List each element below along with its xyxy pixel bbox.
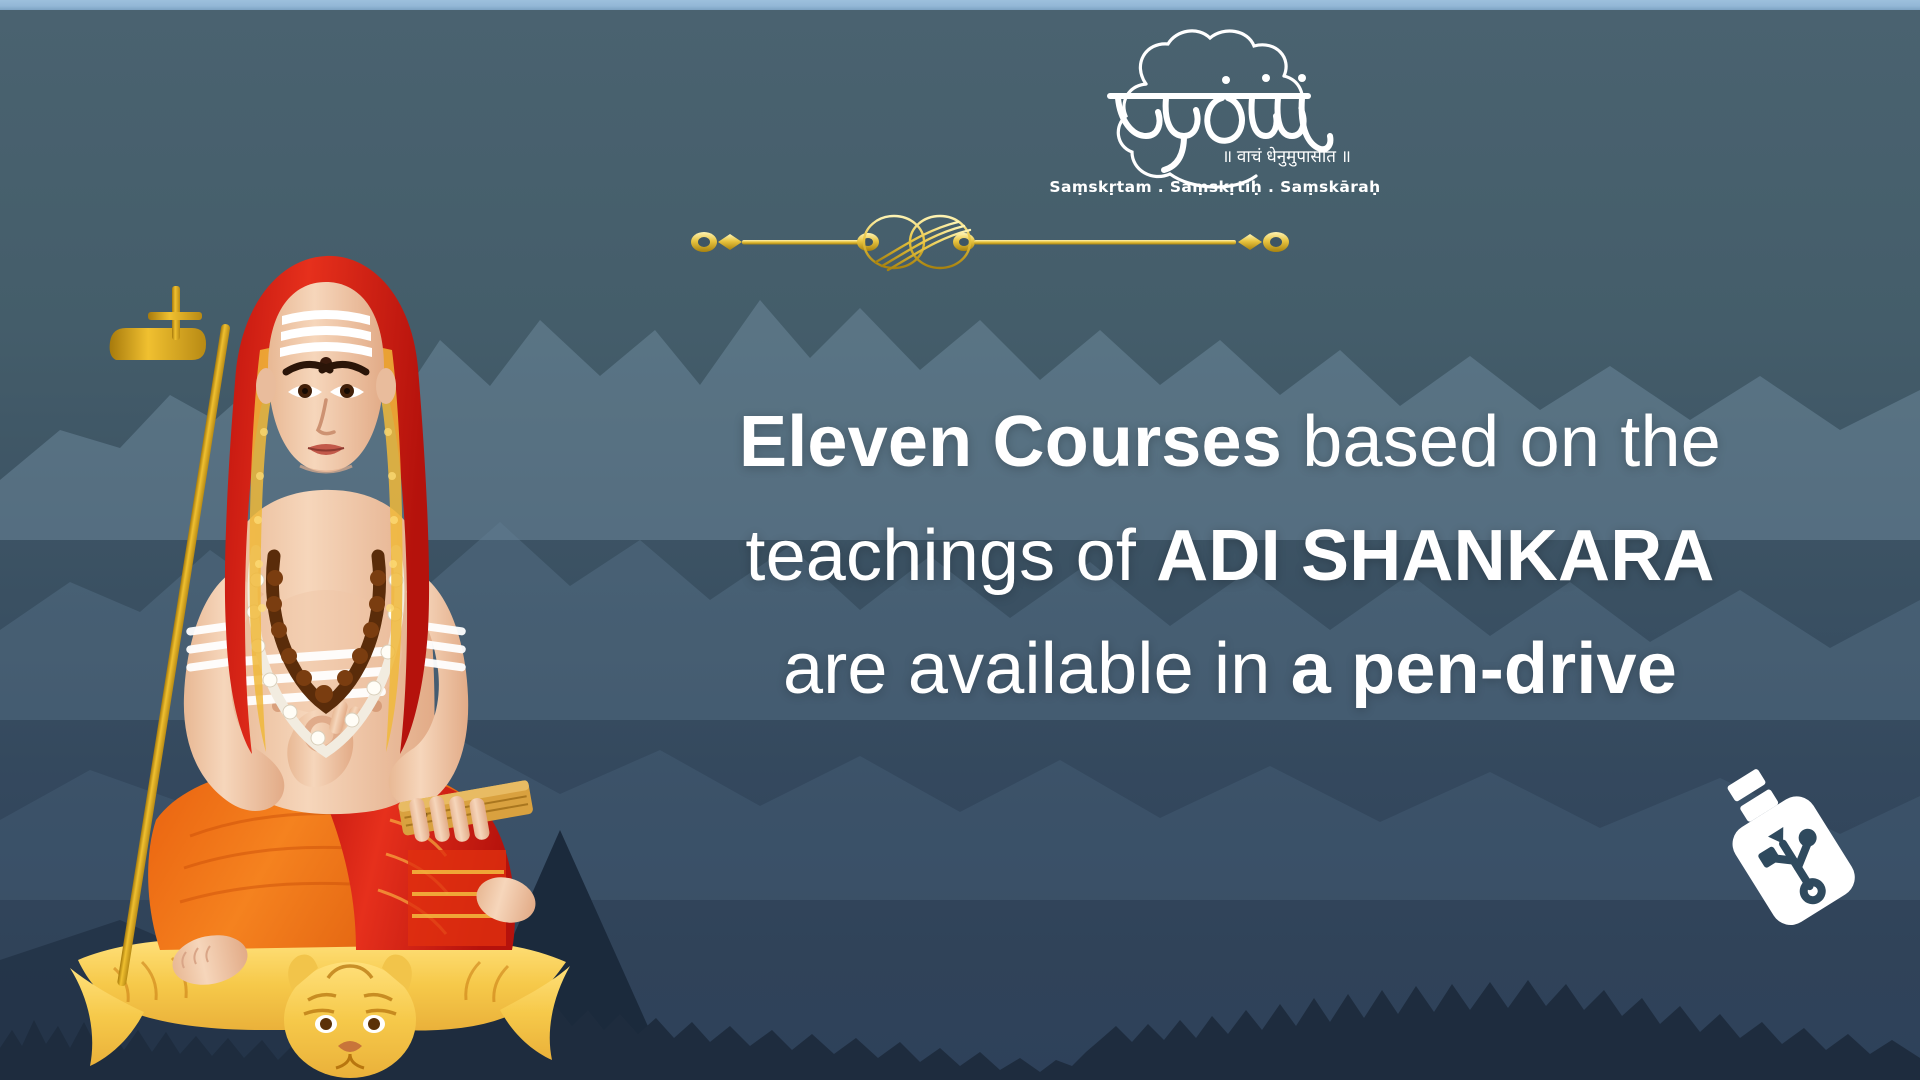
- headline-line-2-strong: ADI SHANKARA: [1156, 516, 1714, 596]
- headline-line-1: Eleven Courses based on the: [640, 396, 1820, 490]
- sky-strip: [0, 0, 1920, 10]
- logo-svg: ॥ वाचं धेनुमुपासीत ॥ Saṃskṛtam . Saṃskṛt…: [1050, 24, 1380, 204]
- headline-line-1-normal: based on the: [1282, 402, 1721, 482]
- headline: Eleven Courses based on the teachings of…: [640, 396, 1820, 717]
- gold-divider-ornament: [690, 212, 1290, 272]
- headline-line-3-strong: a pen-drive: [1291, 629, 1677, 709]
- divider-svg: [690, 212, 1290, 272]
- headline-line-3-normal: are available in: [783, 629, 1291, 709]
- headline-line-2: teachings of ADI SHANKARA: [640, 510, 1820, 604]
- logo-tagline: Saṃskṛtam . Saṃskṛtiḥ . Saṃskāraḥ: [1050, 178, 1380, 196]
- headline-line-3: are available in a pen-drive: [640, 623, 1820, 717]
- usb-flash-drive-icon: [1658, 718, 1906, 966]
- usb-pendrive-icon: [1658, 718, 1906, 966]
- tiger-skin-seat: [70, 939, 570, 1078]
- tripundra-forehead: [280, 310, 372, 357]
- vyoma-logo[interactable]: ॥ वाचं धेनुमुपासीत ॥ Saṃskṛtam . Saṃskṛt…: [1050, 24, 1380, 204]
- tiger-head: [284, 955, 416, 1079]
- logo-motto: ॥ वाचं धेनुमुपासीत ॥: [1222, 146, 1351, 167]
- headline-line-1-strong: Eleven Courses: [739, 402, 1282, 482]
- promo-banner: ॥ वाचं धेनुमुपासीत ॥ Saṃskṛtam . Saṃskṛt…: [0, 0, 1920, 1080]
- adi-shankara-illustration: [60, 200, 580, 1080]
- headline-line-2-normal: teachings of: [745, 516, 1156, 596]
